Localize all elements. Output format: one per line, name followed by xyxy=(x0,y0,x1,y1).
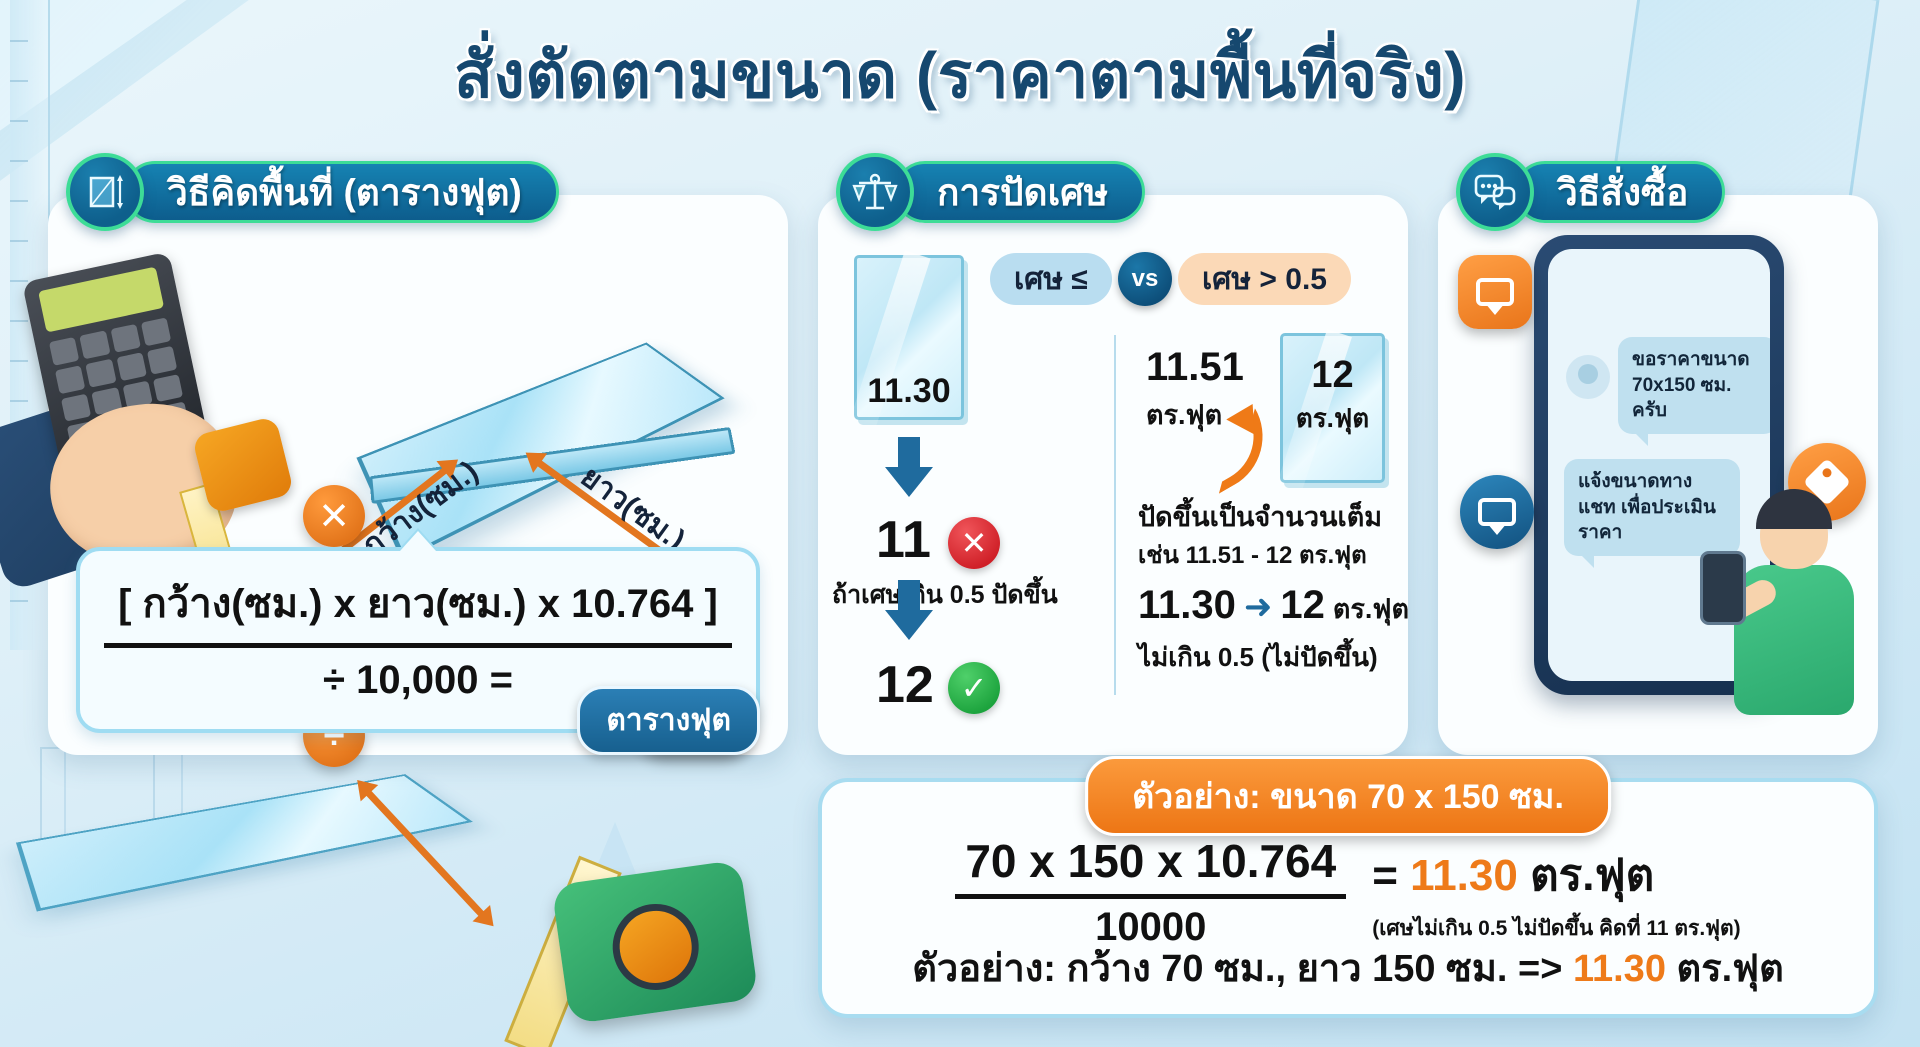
panel-value-12: 12 xyxy=(1283,354,1382,397)
check-icon: ✓ xyxy=(948,662,1000,714)
multiply-icon: ✕ xyxy=(303,485,365,547)
example-final-line: ตัวอย่าง: กว้าง 70 ซม., ยาว 150 ซม. => 1… xyxy=(822,937,1874,998)
panel-value-1130: 11.30 xyxy=(857,372,961,411)
formula-numerator: [ กว้าง(ซม.) x ยาว(ซม.) x 10.764 ] xyxy=(104,571,732,648)
card-rounding-title: การปัดเศษ xyxy=(894,161,1145,223)
example-result-line: = 11.30 ตร.ฟุต xyxy=(1372,840,1654,910)
unit-badge-square-foot: ตารางฟุต xyxy=(577,686,760,755)
card-rounding-header: การปัดเศษ xyxy=(836,153,1145,231)
unit-1151: ตร.ฟุต xyxy=(1146,393,1222,436)
panel-unit-12: ตร.ฟุต xyxy=(1283,398,1382,439)
calculator-hand-illustration xyxy=(10,255,300,555)
right-arrow-icon: ➜ xyxy=(1244,587,1273,627)
chat-bubble-request: ขอราคาขนาด 70x150 ซม. ครับ xyxy=(1618,337,1770,434)
card-area-header: วิธีคิดพื้นที่ (ตารางฟุต) xyxy=(66,153,559,231)
area-formula-box: [ กว้าง(ซม.) x ยาว(ซม.) x 10.764 ] ÷ 10,… xyxy=(76,547,760,733)
cross-icon: ✕ xyxy=(948,517,1000,569)
speech-bubble-orange-icon xyxy=(1458,255,1532,329)
example-result: = 11.30 ตร.ฟุต (เศษไม่เกิน 0.5 ไม่ปัดขึ้… xyxy=(1372,840,1740,945)
value-1151: 11.51 xyxy=(1146,345,1244,390)
rounding-result-right: 12 xyxy=(876,655,934,715)
glass-panel-1130: 11.30 xyxy=(854,255,964,420)
example-badge: ตัวอย่าง: ขนาด 70 x 150 ซม. xyxy=(1085,756,1611,836)
chat-bubble-instruction: แจ้งขนาดทางแชท เพื่อประเมินราคา xyxy=(1564,459,1740,556)
pill-remainder-less-equal: เศษ ≤ xyxy=(990,253,1112,305)
example-result-value: 11.30 xyxy=(1410,851,1518,900)
balance-scale-icon xyxy=(836,153,914,231)
vs-badge: vs xyxy=(1118,252,1172,306)
row-to-value: 12 xyxy=(1280,583,1325,628)
roundup-example-text: เช่น 11.51 - 12 ตร.ฟุต xyxy=(1138,535,1367,574)
tape-strip-decoration xyxy=(504,856,622,1047)
pyramid-decoration xyxy=(560,822,670,957)
example-result-unit: ตร.ฟุต xyxy=(1530,851,1654,900)
chat-bubbles-icon xyxy=(1456,153,1534,231)
row-unit: ตร.ฟุต xyxy=(1333,587,1409,630)
card-rounding: การปัดเศษ 11.30 เศษ ≤ vs เศษ > 0.5 11 ✕ … xyxy=(818,195,1408,755)
card-area-title: วิธีคิดพื้นที่ (ตารางฟุต) xyxy=(124,161,559,223)
example-equation-row: 70 x 150 x 10.764 10000 = 11.30 ตร.ฟุต (… xyxy=(822,834,1874,950)
vertical-divider xyxy=(1114,335,1116,695)
speech-bubble-blue-icon xyxy=(1460,475,1534,549)
page-title: สั่งตัดตามขนาด (ราคาตามพื้นที่จริง) xyxy=(0,24,1920,126)
person-illustration xyxy=(1718,489,1868,739)
tape-measure-illustration xyxy=(551,859,759,1024)
glass-sheet-illustration xyxy=(16,774,473,911)
avatar xyxy=(1566,355,1610,399)
equals-sign: = xyxy=(1372,851,1398,900)
row-from-value: 11.30 xyxy=(1138,583,1236,628)
card-example-calculation: ตัวอย่าง: ขนาด 70 x 150 ซม. 70 x 150 x 1… xyxy=(818,778,1878,1018)
card-area-calculation: วิธีคิดพื้นที่ (ตารางฟุต) กว้าง(ซม.) ยาว… xyxy=(48,195,788,755)
card-order-title: วิธีสั่งซื้อ xyxy=(1514,161,1725,223)
roundup-text: ปัดขึ้นเป็นจำนวนเต็ม xyxy=(1138,495,1382,538)
glass-panel-12: 12 ตร.ฟุต xyxy=(1280,333,1385,483)
example-numerator: 70 x 150 x 10.764 xyxy=(955,834,1346,899)
rounding-rule-note: ถ้าเศษเกิน 0.5 ปัดขึ้น xyxy=(832,575,1058,615)
card-order-header: วิธีสั่งซื้อ xyxy=(1456,153,1725,231)
no-roundup-text: ไม่เกิน 0.5 (ไม่ปัดขึ้น) xyxy=(1138,637,1378,678)
example-fraction: 70 x 150 x 10.764 10000 xyxy=(955,834,1346,950)
example-final-value: 11.30 xyxy=(1573,948,1666,990)
wireframe-cube-decoration xyxy=(40,747,155,857)
rounding-result-wrong: 11 xyxy=(876,510,931,570)
row-1130-to-12: 11.30 ➜ 12 ตร.ฟุต xyxy=(1138,583,1409,630)
card-order-howto: วิธีสั่งซื้อ ขอราคาขนาด 70x150 ซม. ครับ … xyxy=(1438,195,1878,755)
example-final-unit: ตร.ฟุต xyxy=(1677,948,1784,990)
example-final-prefix: ตัวอย่าง: กว้าง 70 ซม., ยาว 150 ซม. => xyxy=(912,948,1562,990)
pill-remainder-greater: เศษ > 0.5 xyxy=(1178,253,1351,305)
diagonal-arrow-decoration xyxy=(358,782,493,926)
glass-panel-measure-icon xyxy=(66,153,144,231)
